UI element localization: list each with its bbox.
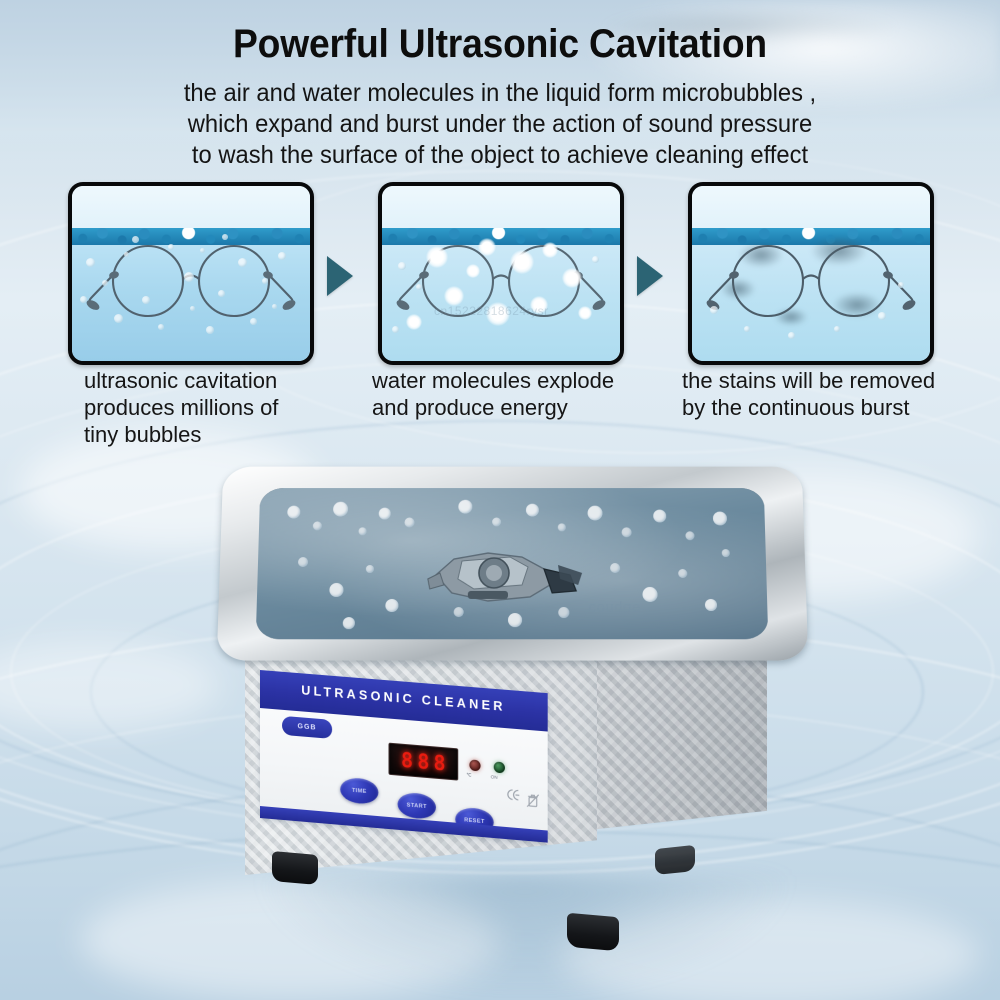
bubble <box>398 262 406 270</box>
subtitle-line-3: to wash the surface of the object to ach… <box>25 140 975 171</box>
bubble <box>142 296 150 304</box>
caption-line: ultrasonic cavitation <box>84 367 278 394</box>
bubble <box>492 517 501 526</box>
process-steps: cn15222818624rysr <box>0 182 1000 362</box>
metal-part-being-cleaned <box>418 535 589 607</box>
bubble <box>114 314 123 323</box>
energy-burst <box>444 286 464 306</box>
caption-line: produces millions of <box>84 394 278 421</box>
bubble <box>713 512 727 526</box>
bubble <box>158 324 164 330</box>
page-subtitle: the air and water molecules in the liqui… <box>25 78 975 171</box>
caption-line: and produce energy <box>372 394 614 421</box>
diamond-texture <box>597 633 767 861</box>
tank-rim: coudge <box>217 467 809 661</box>
subtitle-line-1: the air and water molecules in the liqui… <box>25 78 975 109</box>
bubble <box>722 549 730 557</box>
ultrasonic-cleaner-product: coudge ULTRASONIC CLEANER GGB 8 8 8 ℃ ON… <box>215 455 815 995</box>
energy-burst <box>486 302 510 326</box>
led-digit-1: 8 <box>401 750 413 771</box>
bubble <box>379 508 391 520</box>
bubble <box>102 280 108 286</box>
bubble <box>526 504 539 517</box>
brand-badge-label: GGB <box>298 723 317 732</box>
control-panel: ULTRASONIC CLEANER GGB 8 8 8 ℃ ON TIME S… <box>260 670 548 843</box>
bubble <box>622 527 632 537</box>
bubble <box>458 500 472 514</box>
bubble <box>206 326 214 334</box>
energy-burst <box>406 314 422 330</box>
step-2-image: cn15222818624rysr <box>378 182 624 365</box>
bubble <box>404 517 414 527</box>
bubble <box>184 272 194 282</box>
heat-indicator-label: ℃ <box>466 772 471 778</box>
start-button-label: START <box>407 802 427 810</box>
bubble <box>610 563 620 573</box>
bubble <box>272 304 277 309</box>
energy-burst <box>562 268 582 288</box>
energy-burst <box>530 296 548 314</box>
bubble <box>558 523 566 531</box>
page-title: Powerful Ultrasonic Cavitation <box>35 22 965 67</box>
led-digit-3: 8 <box>433 752 445 773</box>
caption-line: by the continuous burst <box>682 394 935 421</box>
step-3-caption: the stains will be removed by the contin… <box>682 367 935 421</box>
energy-burst <box>426 246 448 268</box>
tank-interior: coudge <box>256 488 769 639</box>
bubble <box>587 506 602 521</box>
bubble <box>86 258 95 267</box>
bubble <box>834 326 840 332</box>
bubble <box>592 256 599 263</box>
bubble <box>788 332 795 339</box>
bubble <box>744 326 750 332</box>
bubble <box>898 282 904 288</box>
caption-line: water molecules explode <box>372 367 614 394</box>
bubble <box>124 252 129 257</box>
bubble <box>80 296 87 303</box>
energy-burst <box>578 306 592 320</box>
time-button[interactable]: TIME <box>340 777 378 805</box>
bubble <box>218 290 225 297</box>
bubble <box>653 510 666 523</box>
bubble <box>200 248 205 253</box>
bubble <box>558 607 569 618</box>
brand-badge: GGB <box>282 716 332 739</box>
bubble <box>710 306 718 314</box>
time-button-label: TIME <box>352 787 367 794</box>
energy-burst <box>542 242 558 258</box>
caption-line: tiny bubbles <box>84 421 278 448</box>
bubble <box>238 258 247 267</box>
bubble <box>678 569 687 578</box>
energy-burst <box>466 264 480 278</box>
bubble <box>705 599 717 611</box>
step-1-caption: ultrasonic cavitation produces millions … <box>84 367 278 448</box>
energy-burst <box>510 250 534 274</box>
bubble <box>508 613 522 627</box>
bubble <box>168 244 174 250</box>
bubble <box>132 236 139 243</box>
subtitle-line-2: which expand and burst under the action … <box>25 109 975 140</box>
chevron-right-icon <box>327 256 353 296</box>
rubber-foot <box>567 913 619 952</box>
bubble <box>262 278 268 284</box>
weee-bin-icon <box>525 792 540 808</box>
bubble <box>385 599 398 612</box>
bubble <box>278 252 286 260</box>
energy-burst <box>478 238 496 256</box>
bubble <box>250 318 257 325</box>
step-3-image <box>688 182 934 365</box>
body-side-panel <box>597 633 767 861</box>
power-indicator-lamp <box>494 761 505 773</box>
caption-line: the stains will be removed <box>682 367 935 394</box>
heat-indicator-lamp <box>469 759 480 771</box>
led-digit-2: 8 <box>417 751 429 772</box>
rubber-foot <box>272 851 318 885</box>
bubble <box>685 531 694 540</box>
led-display[interactable]: 8 8 8 <box>388 743 458 781</box>
bubble <box>222 234 228 240</box>
step-1-image <box>68 182 314 365</box>
bubble <box>190 306 195 311</box>
bubble <box>454 607 464 617</box>
ce-mark-icon <box>506 787 521 803</box>
bubble <box>642 587 657 602</box>
bubble <box>392 326 399 333</box>
start-button[interactable]: START <box>398 792 436 820</box>
power-indicator-label: ON <box>491 774 498 780</box>
bubble <box>878 312 886 320</box>
step-2-caption: water molecules explode and produce ener… <box>372 367 614 421</box>
bubble <box>416 284 422 290</box>
chevron-right-icon <box>637 256 663 296</box>
